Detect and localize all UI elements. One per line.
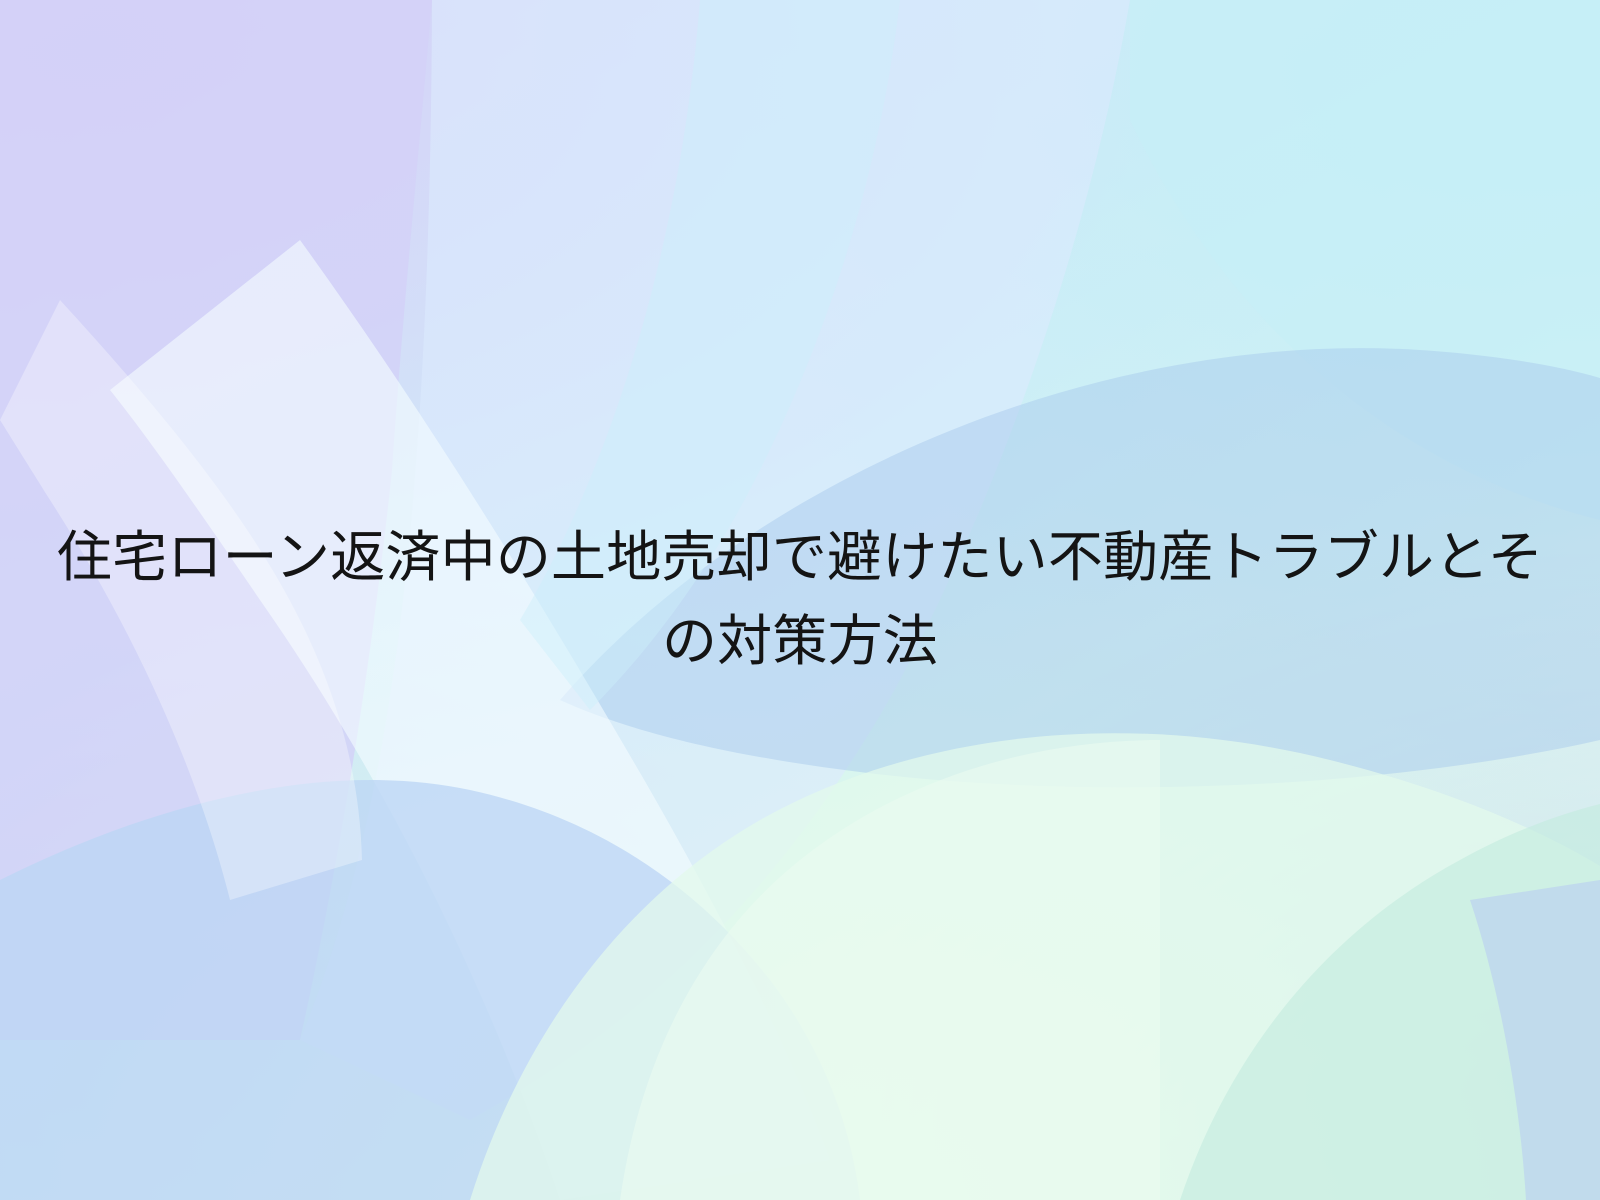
title-container: 住宅ローン返済中の土地売却で避けたい不動産トラブルとその対策方法 xyxy=(0,0,1600,1200)
title-slide: 住宅ローン返済中の土地売却で避けたい不動産トラブルとその対策方法 xyxy=(0,0,1600,1200)
page-title: 住宅ローン返済中の土地売却で避けたい不動産トラブルとその対策方法 xyxy=(42,516,1558,683)
